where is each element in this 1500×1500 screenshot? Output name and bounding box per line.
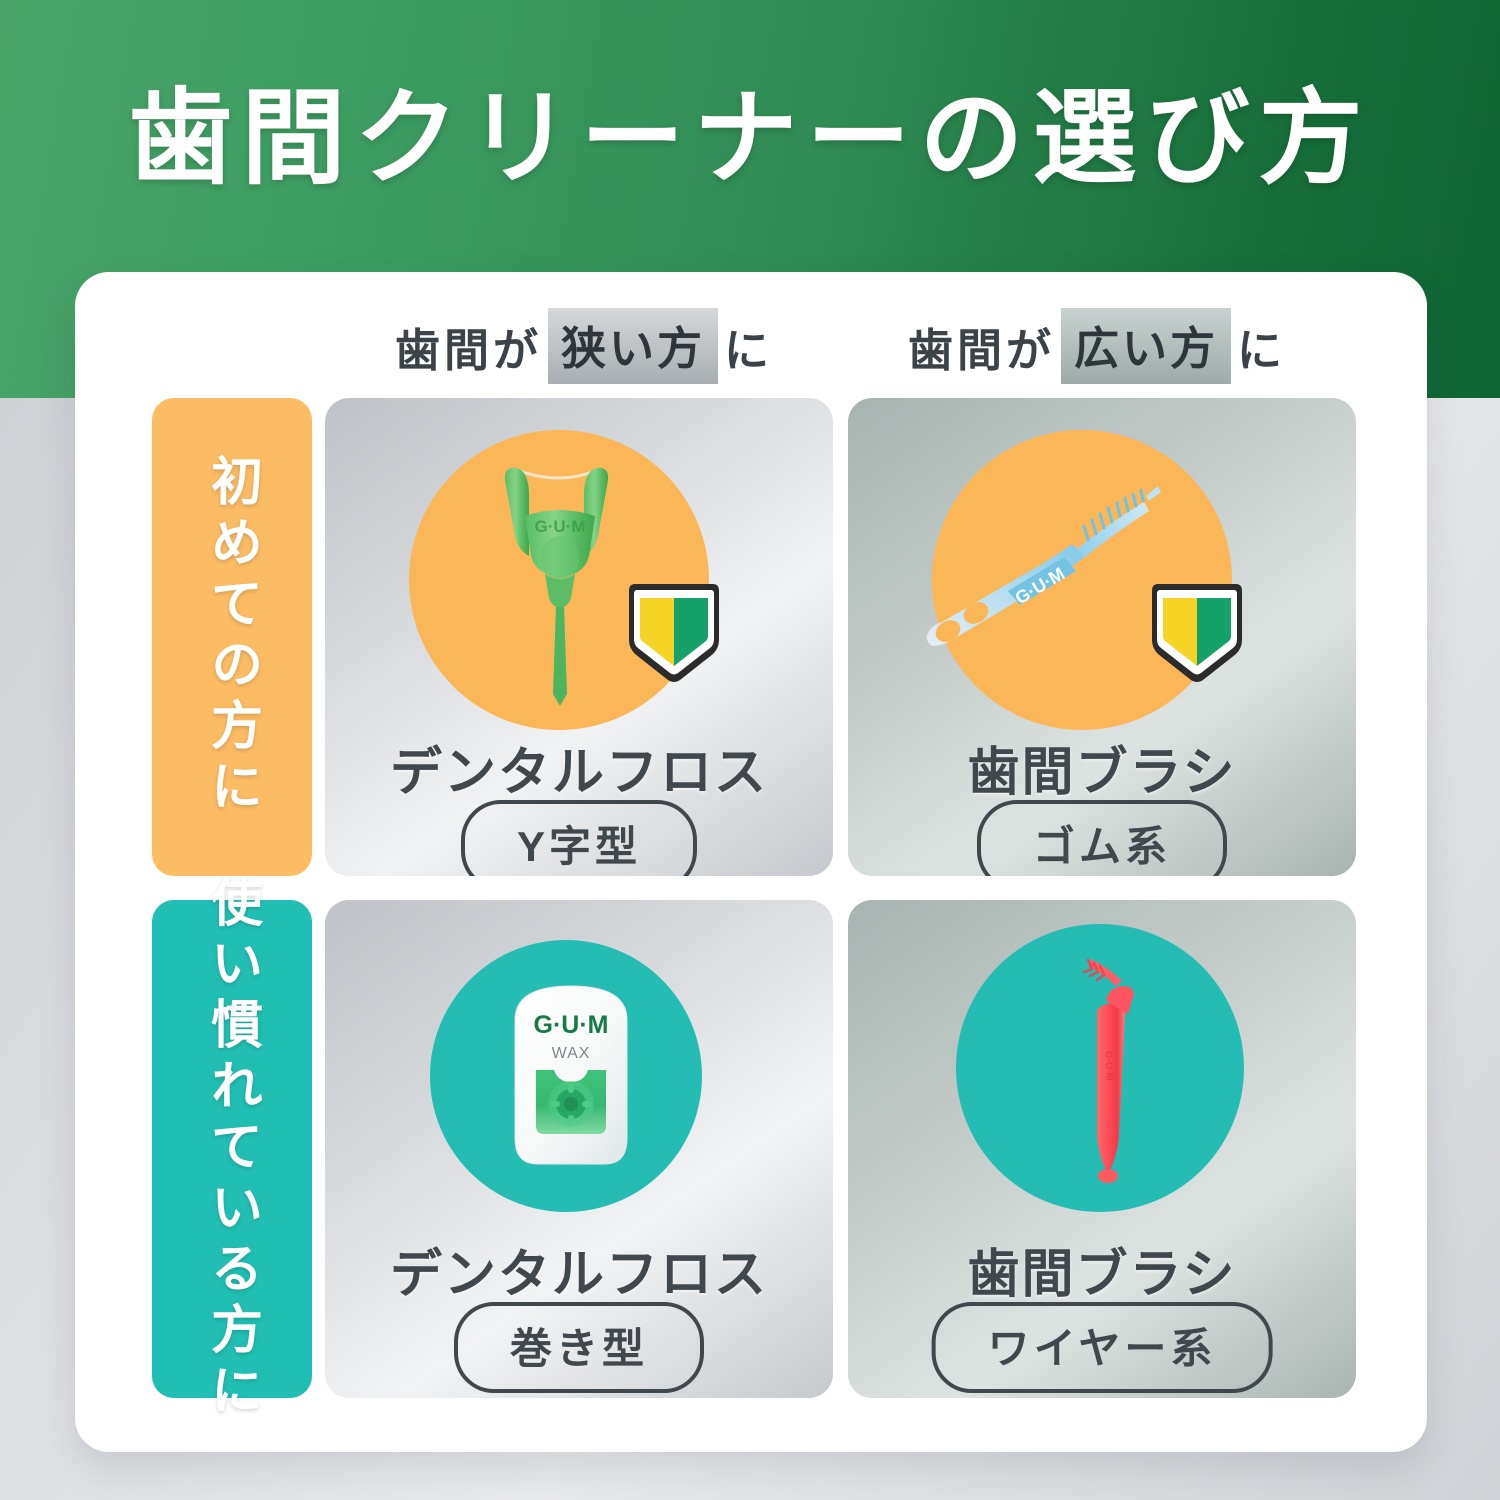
svg-text:G·U·M: G·U·M	[534, 1011, 609, 1039]
card-2-type-pill: ゴム系	[977, 800, 1227, 876]
column-header-narrow-prefix: 歯間が	[395, 314, 542, 379]
card-interdental-brush-wire-type[interactable]: G·U·M 歯間ブラシ ワイヤー系	[848, 900, 1356, 1398]
card-4-type-pill: ワイヤー系	[932, 1302, 1273, 1393]
card-2-title: 歯間ブラシ	[848, 730, 1356, 805]
svg-text:G·U·M: G·U·M	[535, 517, 586, 536]
card-dental-floss-y-type[interactable]: G·U·M デンタルフロス Y字型	[325, 398, 833, 876]
rubber-interdental-pick-icon: G·U·M	[910, 448, 1170, 673]
card-dental-floss-roll-type[interactable]: G·U·M WAX デンタルフロス 巻き型	[325, 900, 833, 1398]
column-headers: 歯間が 狭い方 に 歯間が 広い方 に	[322, 310, 1342, 382]
beginner-mark-badge-2	[1148, 578, 1246, 686]
floss-dispenser-icon: G·U·M WAX	[491, 980, 651, 1170]
column-header-wide-mark: 広い方	[1061, 308, 1231, 384]
card-1-title: デンタルフロス	[325, 730, 833, 805]
beginner-mark-badge-1	[625, 578, 723, 686]
row-label-beginner: 初めての方に	[152, 398, 312, 876]
card-3-title: デンタルフロス	[325, 1232, 833, 1307]
poster-root: 歯間クリーナーの選び方 歯間が 狭い方 に 歯間が 広い方 に 初めての方に 使…	[0, 0, 1500, 1500]
card-1-type-pill: Y字型	[461, 800, 697, 876]
svg-text:WAX: WAX	[552, 1045, 591, 1062]
row-label-experienced: 使い慣れている方に	[152, 900, 312, 1398]
column-header-narrow-suffix: に	[724, 314, 773, 379]
column-header-wide-suffix: に	[1237, 314, 1286, 379]
column-header-wide: 歯間が 広い方 に	[847, 310, 1347, 382]
card-3-type-pill: 巻き型	[454, 1302, 704, 1393]
column-header-narrow-mark: 狭い方	[548, 308, 718, 384]
wire-interdental-brush-icon: G·U·M	[1044, 938, 1174, 1188]
svg-text:G·U·M: G·U·M	[1102, 1051, 1114, 1081]
page-title: 歯間クリーナーの選び方	[0, 78, 1500, 201]
card-4-title: 歯間ブラシ	[848, 1232, 1356, 1307]
card-interdental-brush-rubber-type[interactable]: G·U·M	[848, 398, 1356, 876]
column-header-wide-prefix: 歯間が	[908, 314, 1055, 379]
column-header-narrow: 歯間が 狭い方 に	[334, 310, 834, 382]
